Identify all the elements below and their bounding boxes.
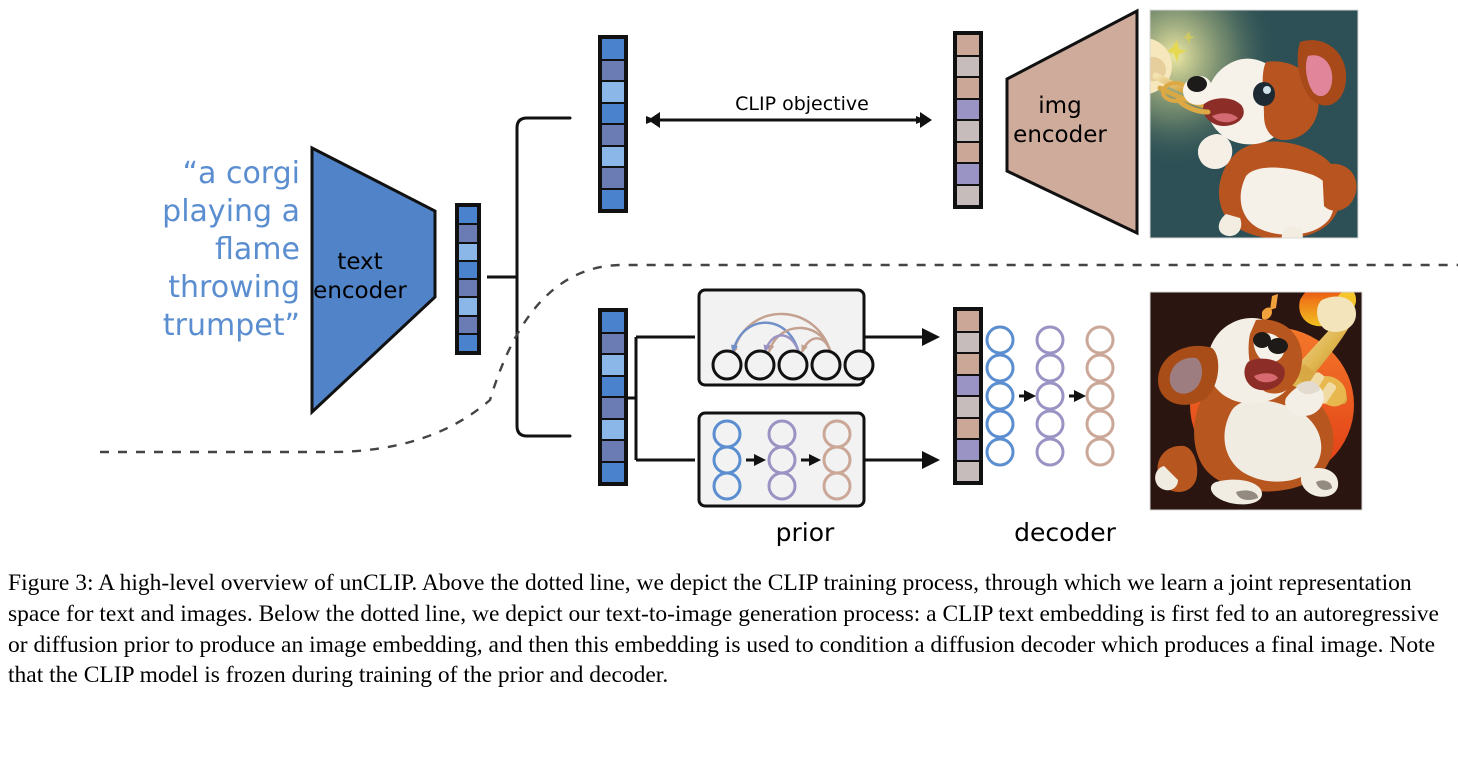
embedding-cell — [459, 244, 477, 260]
embedding-cell — [957, 376, 979, 396]
embedding-cell — [957, 186, 979, 206]
embedding-cell — [602, 147, 624, 167]
embedding-cell — [957, 143, 979, 163]
decoder-network — [987, 327, 1113, 465]
embedding-cell — [459, 225, 477, 241]
embedding-cell — [602, 312, 624, 332]
prior-label: prior — [740, 518, 870, 547]
embedding-cell — [957, 57, 979, 77]
embedding-cell — [602, 420, 624, 440]
caption-body: A high-level overview of unCLIP. Above t… — [8, 570, 1439, 688]
embedding-cell — [957, 440, 979, 460]
embedding-cell — [459, 335, 477, 351]
embedding-cell — [957, 333, 979, 353]
embedding-cell — [459, 298, 477, 314]
decoder-label: decoder — [985, 518, 1145, 547]
embedding-cell — [957, 121, 979, 141]
embedding-cell — [459, 262, 477, 278]
embedding-cell — [602, 39, 624, 59]
embedding-cell — [602, 190, 624, 210]
embedding-cell — [602, 61, 624, 81]
embedding-cell — [602, 398, 624, 418]
embedding-cell — [459, 207, 477, 223]
top-generated-image — [1130, 10, 1358, 246]
figure-page: “a corgi playing a flame throwing trumpe… — [0, 0, 1458, 762]
text-encoder-label: text encoder — [300, 248, 420, 306]
embedding-cell — [602, 334, 624, 354]
clip-text-embedding — [598, 35, 628, 213]
embedding-cell — [957, 419, 979, 439]
embedding-cell — [602, 441, 624, 461]
clip-objective-label: CLIP objective — [712, 93, 892, 115]
decoder-input-image-embedding — [953, 307, 983, 485]
embedding-cell — [957, 100, 979, 120]
text-encoder-output-embedding — [455, 203, 481, 355]
embedding-cell — [459, 317, 477, 333]
prior-input-text-embedding — [598, 308, 628, 486]
embedding-cell — [602, 82, 624, 102]
embedding-cell — [957, 35, 979, 55]
split-bracket — [517, 118, 570, 436]
embedding-cell — [957, 354, 979, 374]
embedding-cell — [602, 125, 624, 145]
clip-image-embedding — [953, 31, 983, 209]
bottom-generated-image — [1150, 284, 1362, 510]
embedding-cell — [602, 355, 624, 375]
embedding-cell — [957, 78, 979, 98]
embedding-cell — [957, 462, 979, 482]
embedding-cell — [957, 311, 979, 331]
caption-label: Figure 3: — [8, 570, 94, 596]
prompt-text: “a corgi playing a flame throwing trumpe… — [110, 155, 300, 345]
embedding-cell — [602, 463, 624, 483]
figure-diagram: “a corgi playing a flame throwing trumpe… — [0, 0, 1458, 560]
embedding-cell — [957, 164, 979, 184]
embedding-cell — [957, 397, 979, 417]
embedding-cell — [459, 280, 477, 296]
figure-caption: Figure 3: A high-level overview of unCLI… — [8, 568, 1450, 691]
embedding-cell — [602, 377, 624, 397]
prior-bracket — [636, 337, 695, 460]
embedding-cell — [602, 104, 624, 124]
embedding-cell — [602, 168, 624, 188]
img-encoder-label: img encoder — [1000, 92, 1120, 150]
diffusion-prior-box — [699, 413, 864, 506]
